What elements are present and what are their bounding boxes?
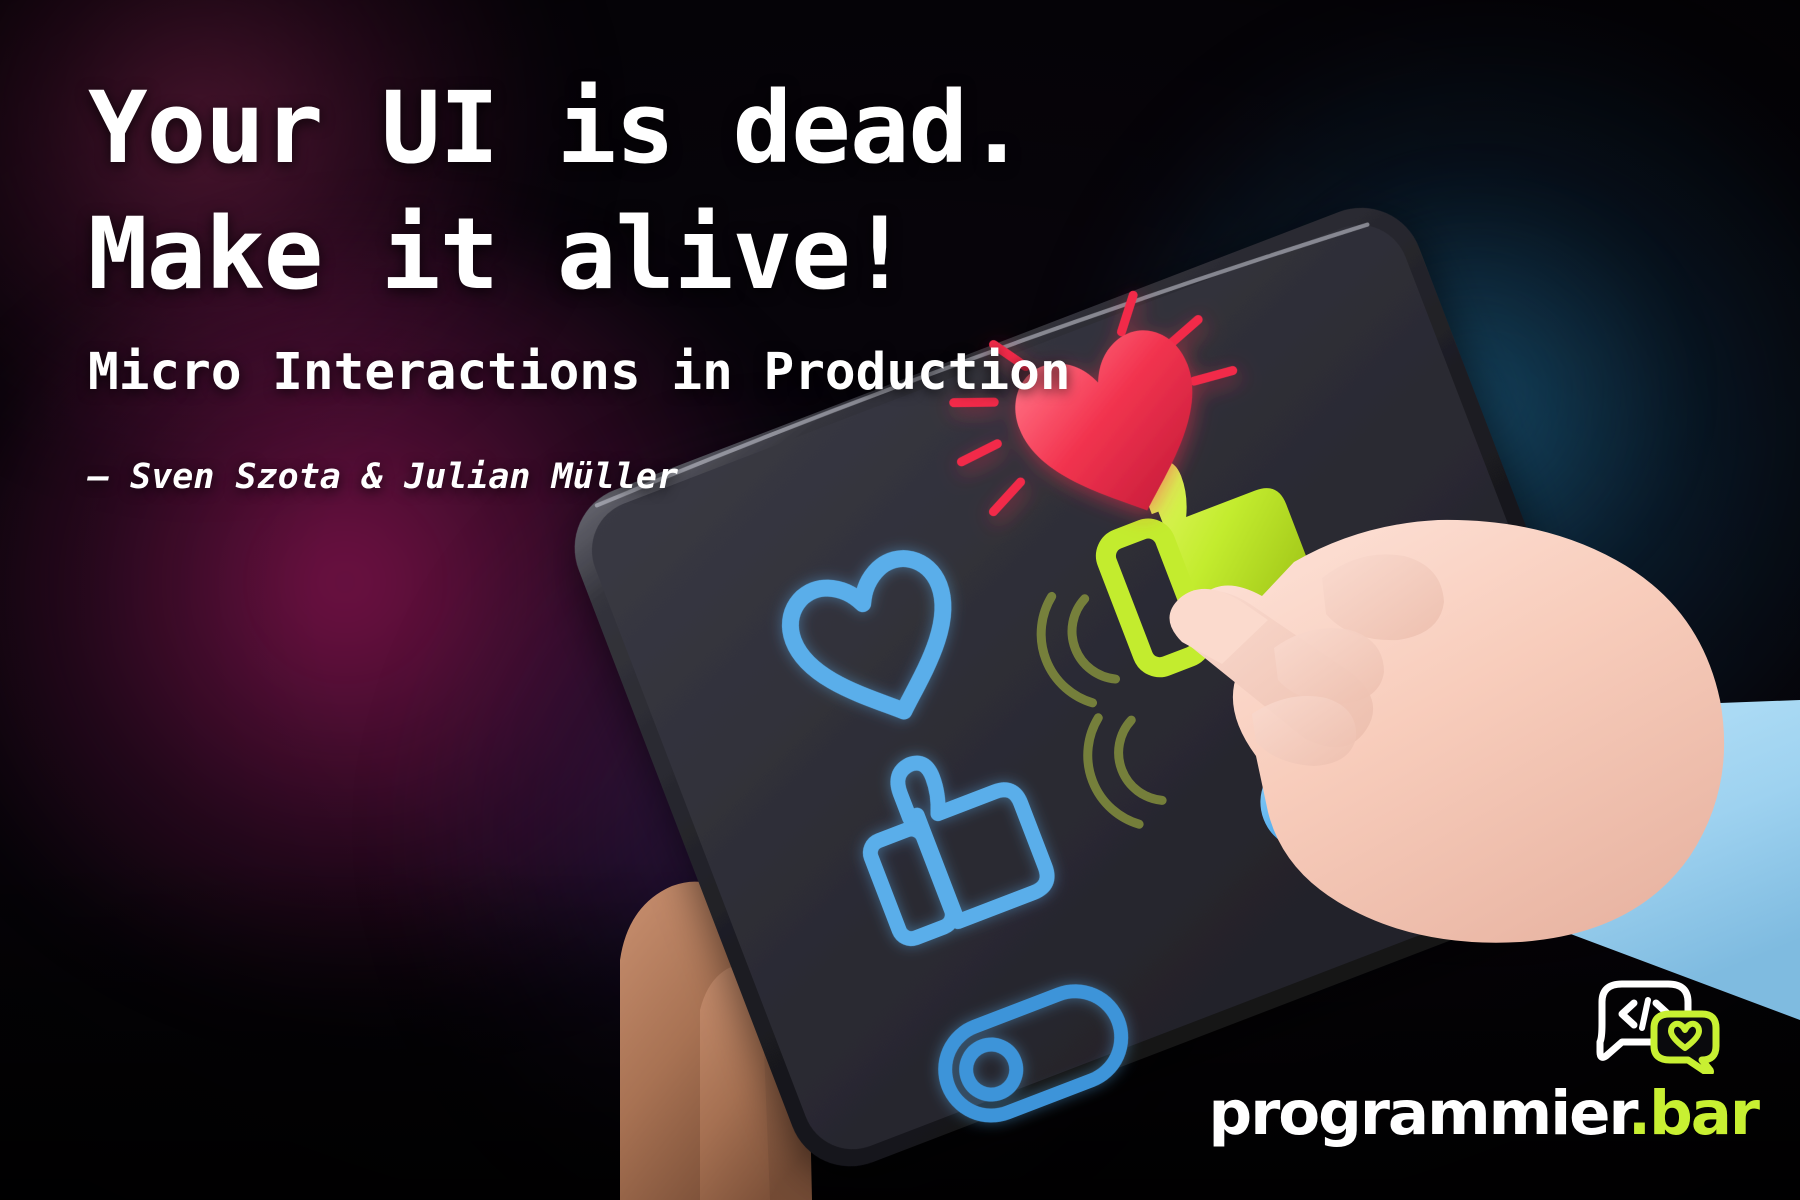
subtitle: Micro Interactions in Production bbox=[88, 340, 1071, 406]
title-line-1: Your UI is dead. bbox=[88, 66, 1071, 192]
heart-bubble-icon bbox=[1654, 1014, 1716, 1073]
title-block: Your UI is dead. Make it alive! Micro In… bbox=[88, 66, 1071, 500]
title-line-2: Make it alive! bbox=[88, 192, 1071, 318]
speaker-byline: – Sven Szota & Julian Müller bbox=[88, 454, 1071, 500]
logo-wordmark: programmier.bar bbox=[1209, 1080, 1758, 1148]
brand-logo[interactable]: programmier.bar bbox=[1209, 976, 1758, 1148]
logo-name-accent: bar bbox=[1649, 1078, 1758, 1149]
logo-name-primary: programmier bbox=[1209, 1078, 1628, 1149]
logo-speech-bubbles-icon bbox=[1592, 976, 1722, 1074]
slide-canvas: Your UI is dead. Make it alive! Micro In… bbox=[0, 0, 1800, 1200]
logo-name-dot: . bbox=[1628, 1078, 1649, 1149]
